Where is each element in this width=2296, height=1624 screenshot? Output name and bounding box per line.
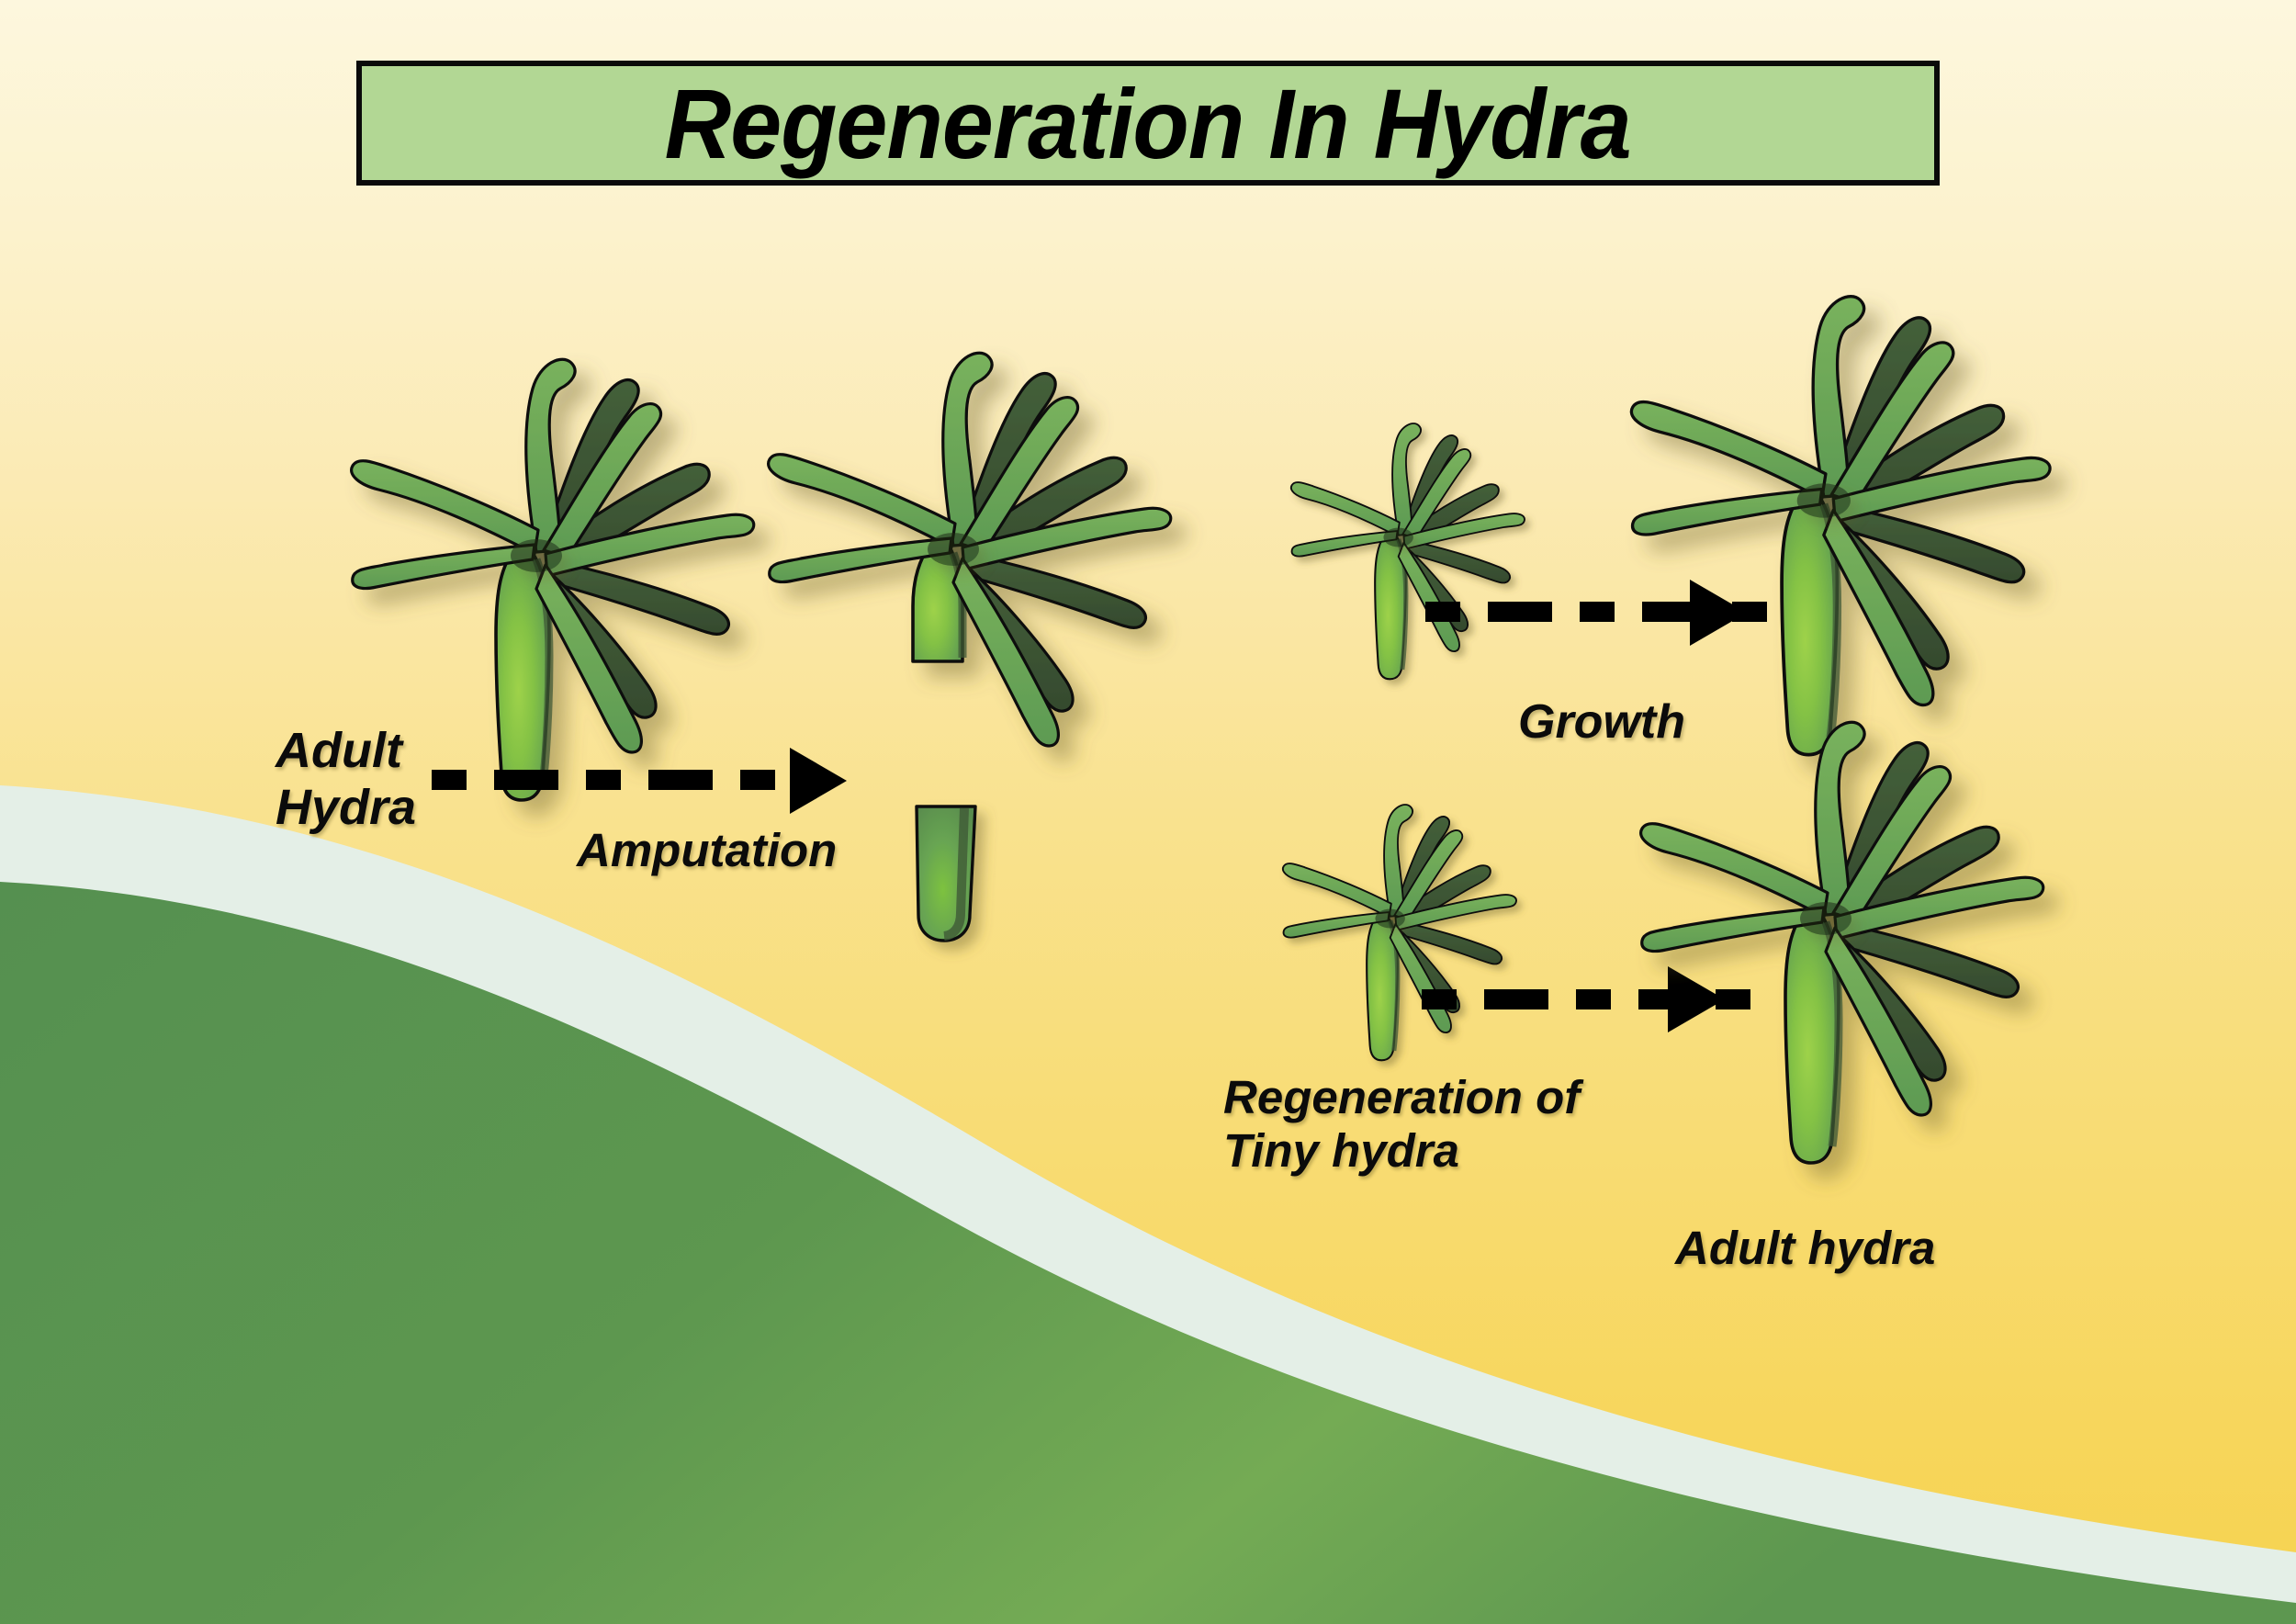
hydra-amputated-head xyxy=(769,353,1171,746)
label-adult-hydra-regenerated: Adult hydra xyxy=(1675,1222,1935,1275)
arrow-growth xyxy=(1425,580,1767,646)
diagram-canvas: Regeneration In Hydra xyxy=(0,0,2296,1624)
hydra-body-fragment xyxy=(917,806,975,941)
tiny-hydra-top xyxy=(1291,423,1525,679)
label-amputation: Amputation xyxy=(577,824,837,877)
tiny-hydra-bottom xyxy=(1283,805,1516,1060)
arrow-amputation xyxy=(432,748,847,814)
adult-hydra-grown xyxy=(1631,297,2050,755)
label-adult-hydra: Adult Hydra xyxy=(276,723,416,836)
label-regeneration-tiny-hydra: Regeneration of Tiny hydra xyxy=(1223,1071,1580,1178)
arrow-regeneration xyxy=(1422,966,1750,1032)
adult-hydra-regenerated xyxy=(1641,722,2043,1163)
label-growth: Growth xyxy=(1518,695,1685,750)
